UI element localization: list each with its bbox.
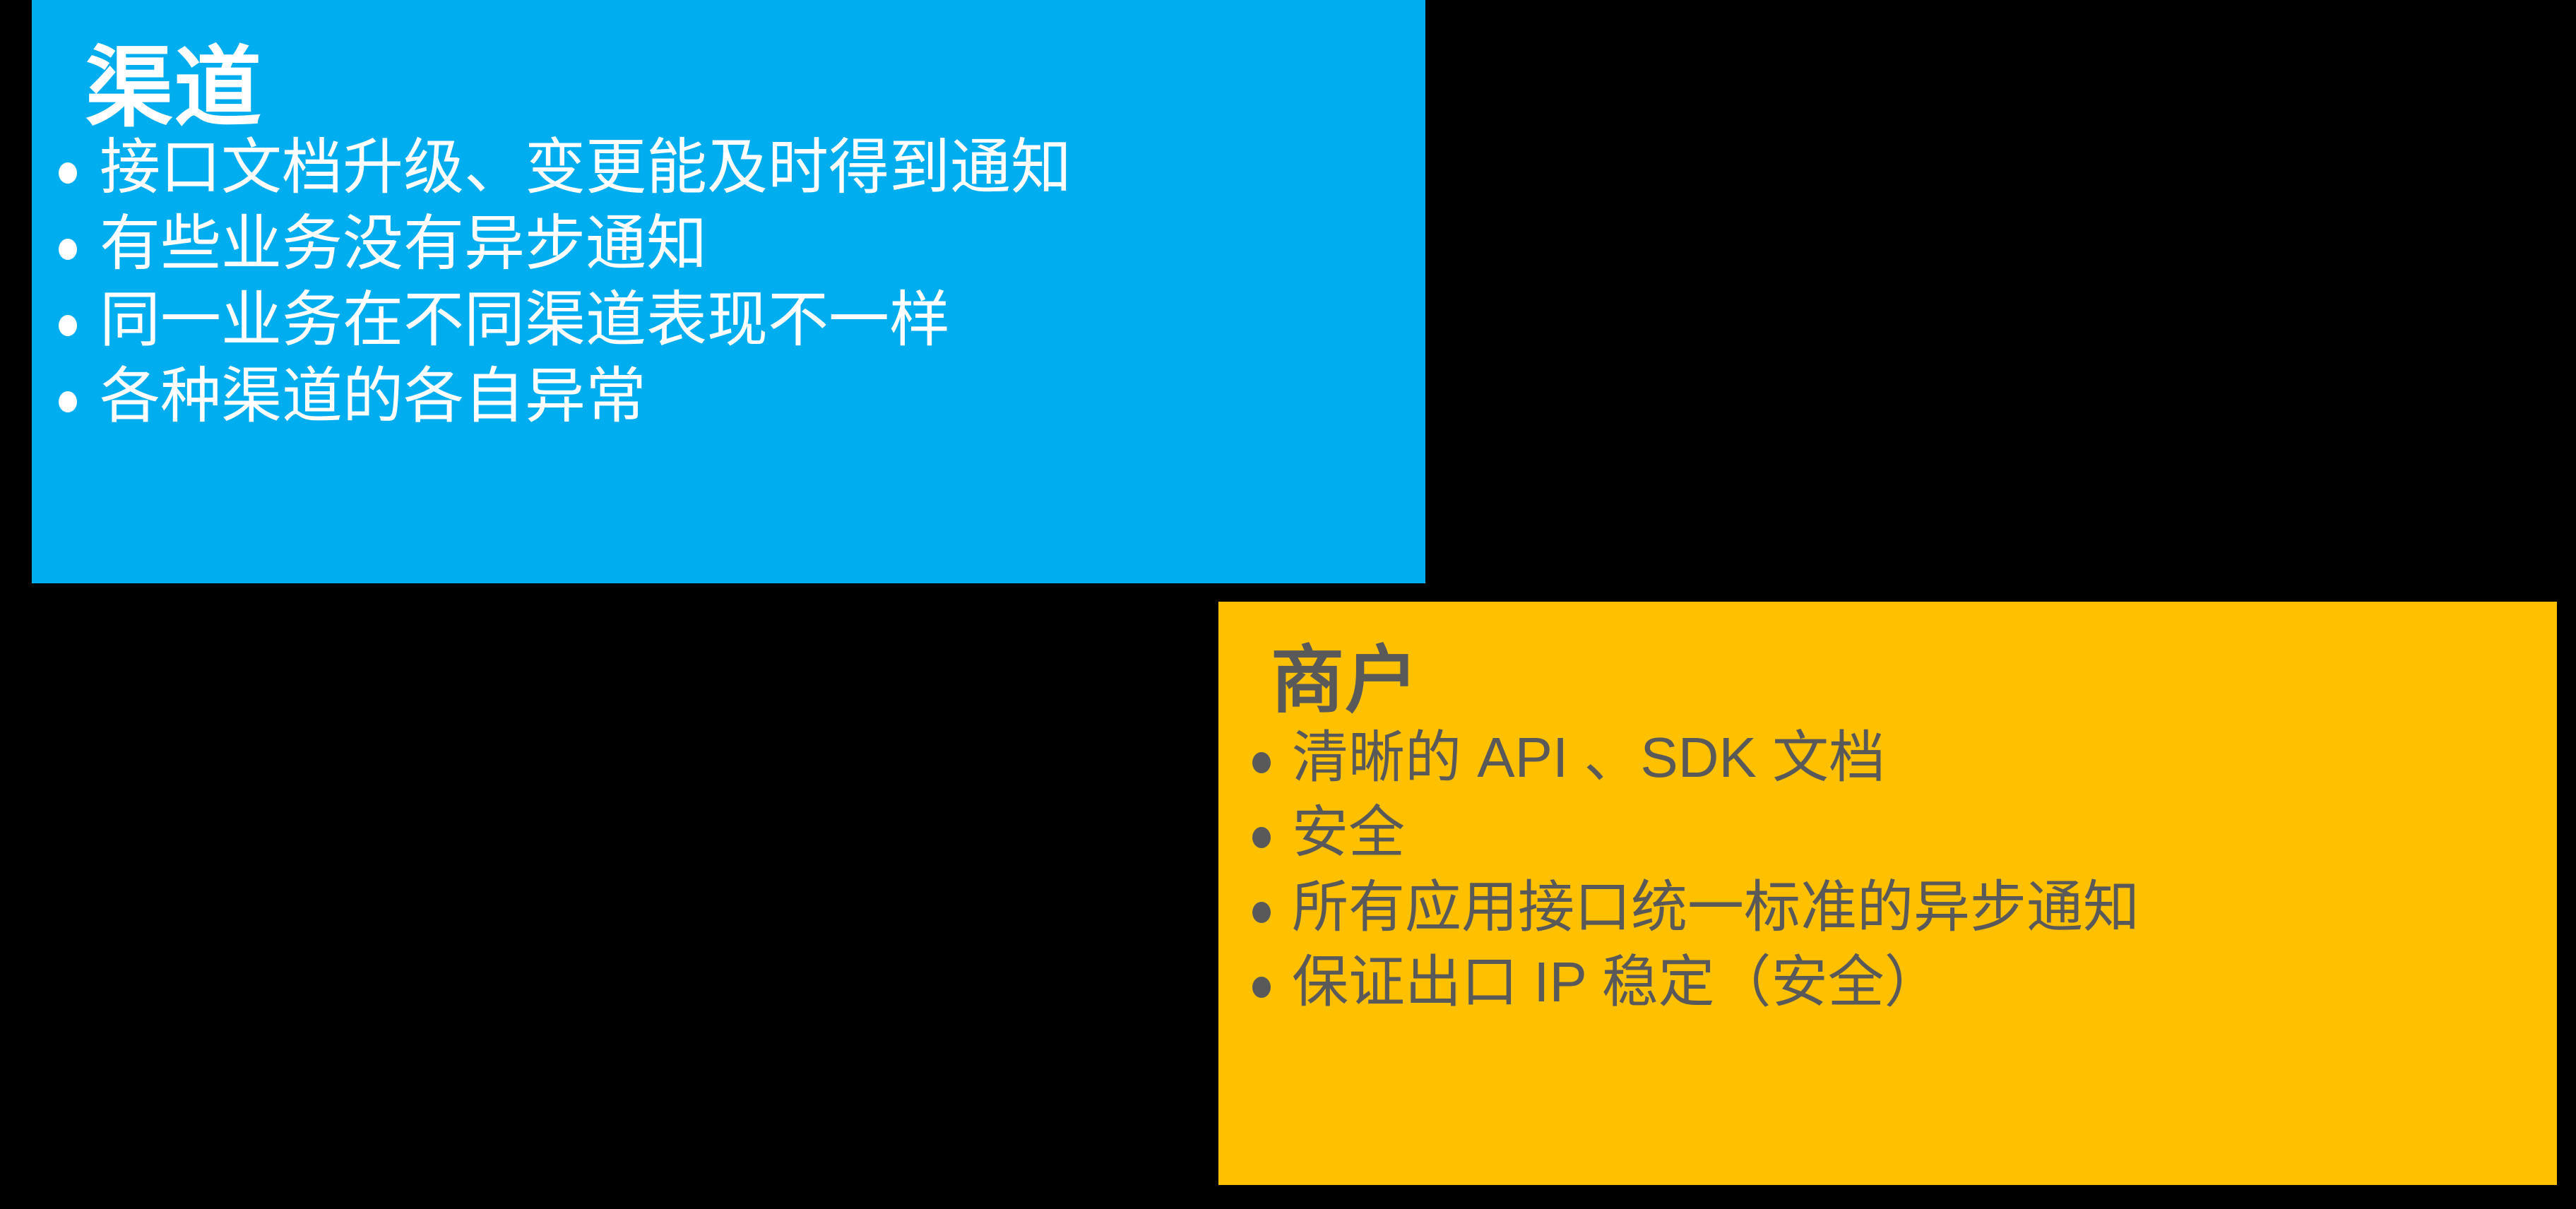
list-item: 接口文档升级、变更能及时得到通知: [59, 137, 1397, 198]
channel-panel-title: 渠道: [59, 42, 1397, 134]
merchant-panel: 商户 清晰的 API 、SDK 文档 安全 所有应用接口统一标准的异步通知 保证…: [1218, 602, 2557, 1185]
list-item-label: 同一业务在不同渠道表现不一样: [100, 290, 950, 350]
list-item-label: 各种渠道的各自异常: [100, 366, 646, 427]
list-item: 有些业务没有异步通知: [59, 213, 1397, 274]
bullet-dot-icon: [59, 239, 77, 260]
list-item-label: 所有应用接口统一标准的异步通知: [1292, 879, 2139, 936]
list-item: 保证出口 IP 稳定（安全）: [1252, 954, 2536, 1011]
bullet-dot-icon: [1252, 977, 1271, 998]
list-item-label: 安全: [1292, 804, 1405, 861]
list-item-label: 接口文档升级、变更能及时得到通知: [100, 137, 1072, 198]
bullet-dot-icon: [1252, 827, 1271, 848]
list-item-label: 保证出口 IP 稳定（安全）: [1292, 954, 1941, 1011]
list-item: 安全: [1252, 804, 2536, 861]
bullet-dot-icon: [59, 391, 77, 412]
merchant-bullet-list: 清晰的 API 、SDK 文档 安全 所有应用接口统一标准的异步通知 保证出口 …: [1252, 729, 2536, 1011]
list-item: 同一业务在不同渠道表现不一样: [59, 290, 1397, 350]
bullet-dot-icon: [1252, 752, 1271, 773]
channel-bullet-list: 接口文档升级、变更能及时得到通知 有些业务没有异步通知 同一业务在不同渠道表现不…: [59, 137, 1397, 427]
bullet-dot-icon: [59, 162, 77, 184]
bullet-dot-icon: [59, 315, 77, 336]
list-item: 清晰的 API 、SDK 文档: [1252, 729, 2536, 786]
list-item-label: 有些业务没有异步通知: [100, 213, 707, 274]
list-item: 所有应用接口统一标准的异步通知: [1252, 879, 2536, 936]
channel-panel: 渠道 接口文档升级、变更能及时得到通知 有些业务没有异步通知 同一业务在不同渠道…: [32, 0, 1425, 583]
list-item: 各种渠道的各自异常: [59, 366, 1397, 427]
merchant-panel-title: 商户: [1252, 643, 2536, 720]
bullet-dot-icon: [1252, 902, 1271, 923]
list-item-label: 清晰的 API 、SDK 文档: [1292, 729, 1885, 786]
slide-canvas: 渠道 接口文档升级、变更能及时得到通知 有些业务没有异步通知 同一业务在不同渠道…: [0, 0, 2576, 1209]
